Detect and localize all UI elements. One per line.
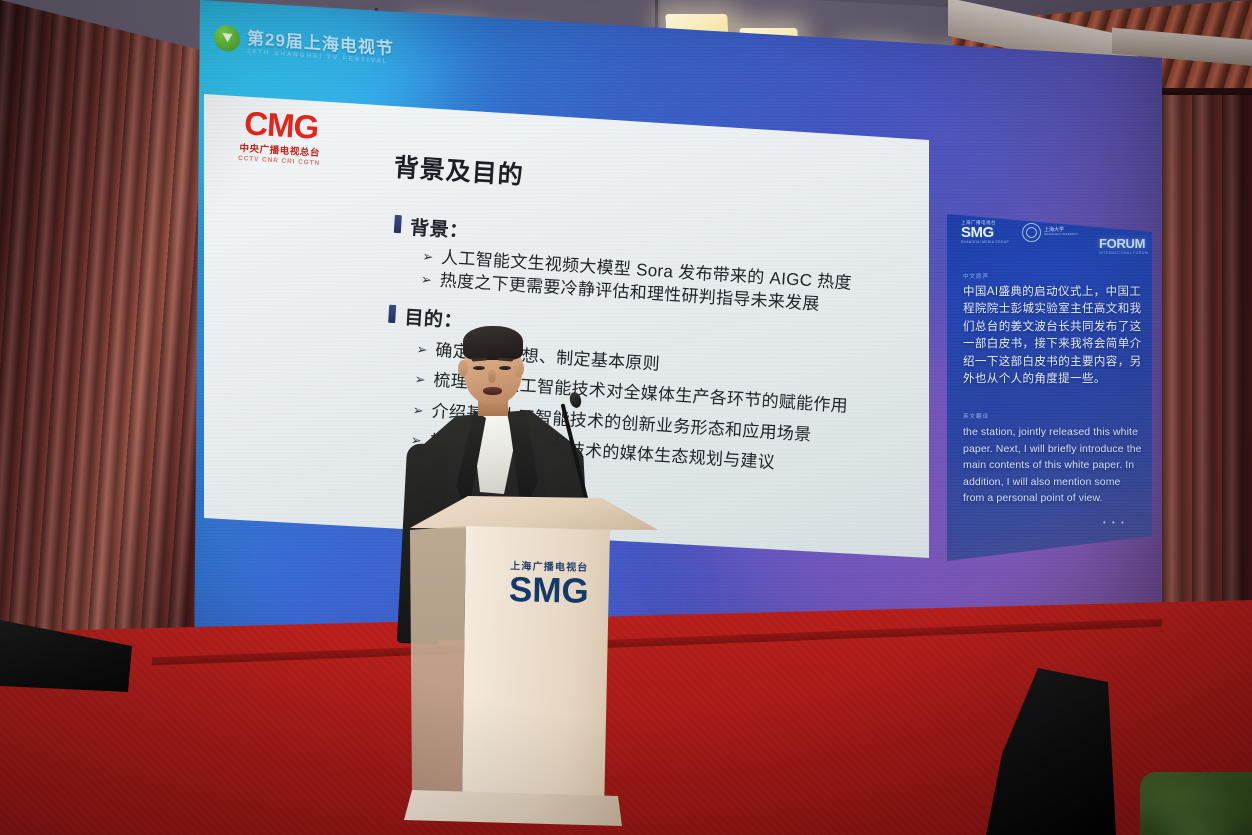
forum-logo: FORUM INTERNATIONAL FORUM [1099,236,1148,255]
subtitle-panel: 上海广播电视台 SMG SHANGHAI MEDIA GROUP 上海大学 SH… [947,196,1152,561]
podium-smg-logo: 上海广播电视台 SMG [489,557,608,609]
decorative-plants [1140,772,1252,835]
speaker-nose [488,370,496,383]
chinese-subtitle-text: 中国AI盛典的启动仪式上，中国工程院院士彭城实验室主任高文和我们总台的姜文波台长… [963,284,1143,389]
english-subtitle-text: the station, jointly released this white… [963,424,1143,507]
smg-logo-wordmark: SMG [961,226,1009,240]
conference-stage-photo: 第29届上海电视节 29TH SHANGHAI TV FESTIVAL CMG … [0,0,1252,835]
english-subtitle-label: 英文翻译 [963,412,989,420]
university-seal-icon [1022,223,1041,242]
speaker-eye-left [473,366,485,370]
speaker-eye-right [499,366,511,370]
speaker-hair [463,326,523,360]
subtitle-continuation-dots: • • • [1103,518,1126,527]
speaker-mouth [483,387,502,395]
slide-title: 背景及目的 [393,148,525,192]
microphone-head [568,391,583,409]
smg-logo-en: SHANGHAI MEDIA GROUP [961,240,1009,244]
forum-wordmark: FORUM [1099,236,1148,251]
chinese-subtitle-label: 中文原声 [963,272,989,280]
podium-base [404,790,622,826]
arrow-bullet-icon: ➢ [422,249,434,266]
stage-curtain-left [0,0,215,734]
university-logo: 上海大学 SHANGHAI UNIVERSITY [1022,223,1079,242]
section-bullet-marker [388,305,396,323]
festival-logo-icon [214,24,240,52]
arrow-bullet-icon: ➢ [420,272,432,289]
led-video-wall: 第29届上海电视节 29TH SHANGHAI TV FESTIVAL CMG … [152,0,1162,672]
section-bullet-marker [394,215,402,233]
cmg-logo: CMG 中央广播电视总台 CCTV CNR CRI CGTN [220,105,341,168]
speaker-ear-left [458,360,468,377]
smg-logo: 上海广播电视台 SMG SHANGHAI MEDIA GROUP [961,220,1009,244]
section-heading: 背景： [409,213,469,244]
forum-subtitle: INTERNATIONAL FORUM [1099,251,1148,255]
university-name-en: SHANGHAI UNIVERSITY [1044,233,1079,237]
podium-smg-wordmark: SMG [489,572,608,609]
speaker-ear-right [514,360,524,377]
podium-side-panel [410,524,466,810]
